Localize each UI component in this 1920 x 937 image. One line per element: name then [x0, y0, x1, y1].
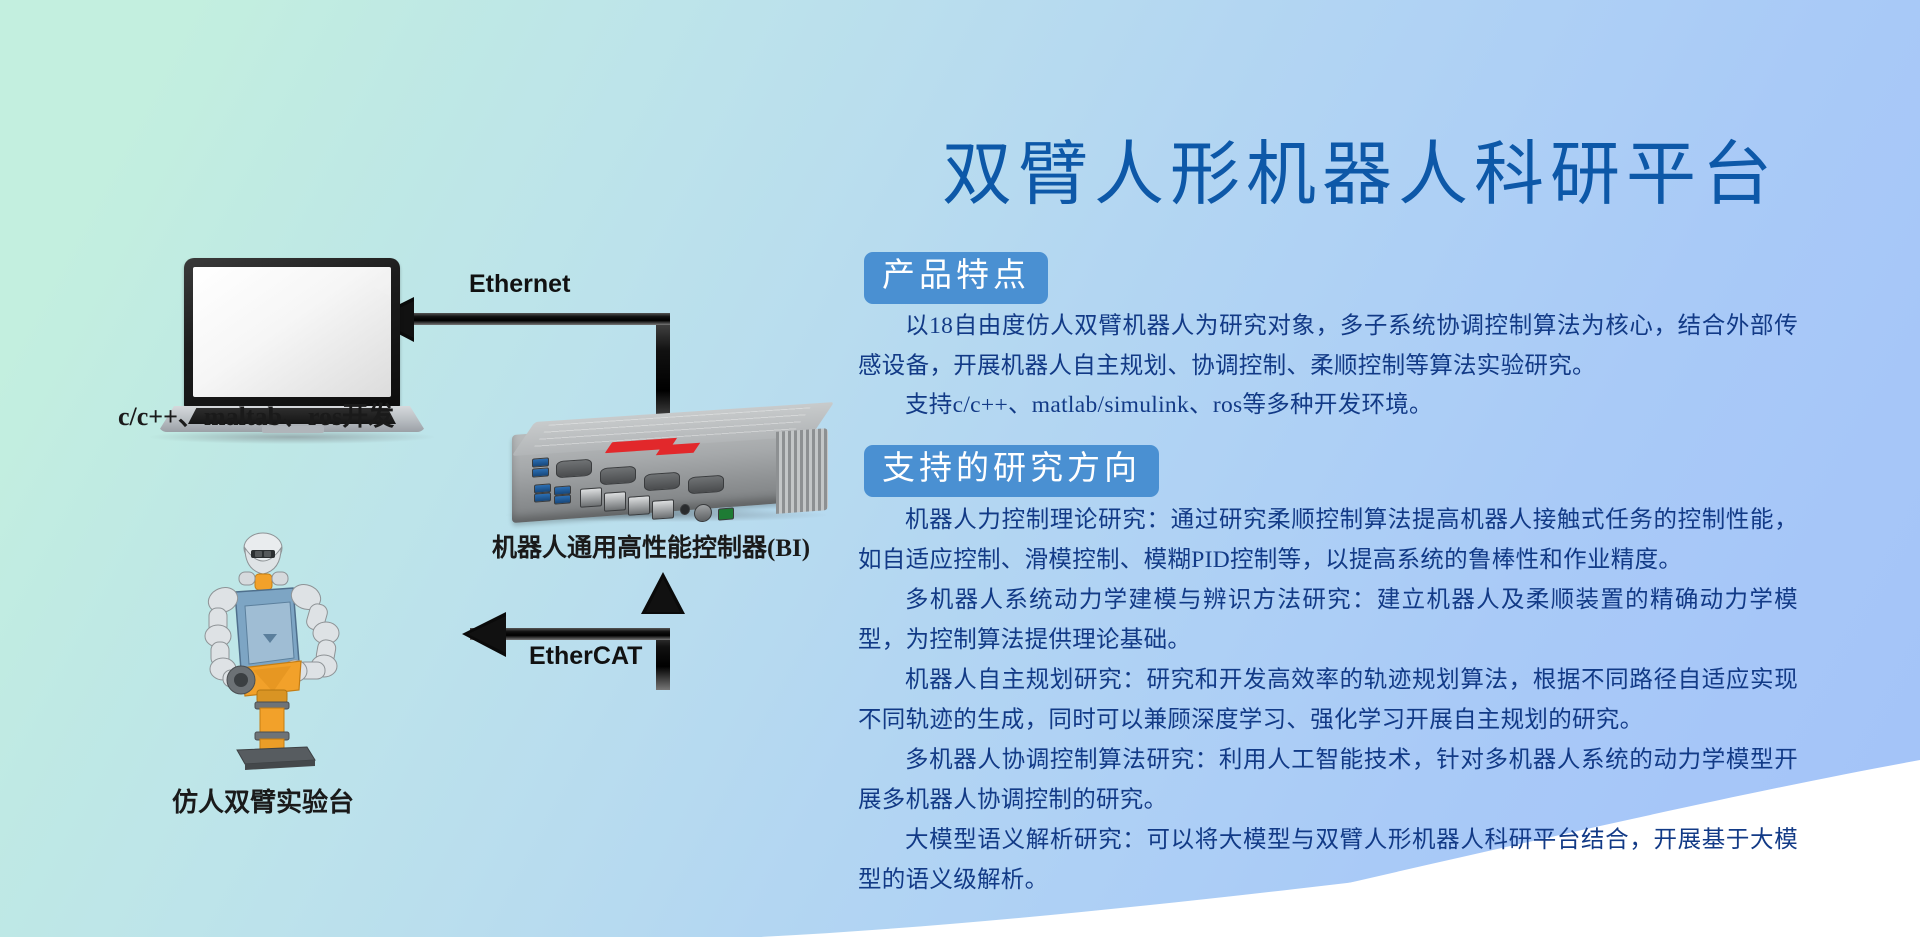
laptop-screen — [193, 267, 391, 397]
feature-paragraph: 支持c/c++、matlab/simulink、ros等多种开发环境。 — [858, 385, 1798, 425]
screen-glint — [339, 267, 391, 297]
page-title: 双臂人形机器人科研平台 — [840, 118, 1880, 219]
system-architecture-diagram: c/c++、maltab、ros开发 — [0, 0, 860, 937]
feature-paragraph: 以18自由度仿人双臂机器人为研究对象，多子系统协调控制算法为核心，结合外部传感设… — [858, 306, 1798, 386]
robot-label: 仿人双臂实验台 — [172, 782, 354, 819]
ethercat-arrow — [462, 572, 685, 690]
controller-serial-port — [644, 472, 680, 492]
direction-paragraph: 大模型语义解析研究：可以将大模型与双臂人形机器人科研平台结合，开展基于大模型的语… — [858, 820, 1798, 900]
controller-ethernet-port — [604, 491, 626, 512]
ethercat-link-label: EtherCAT — [529, 642, 642, 671]
controller-ethernet-port — [628, 495, 650, 516]
laptop-label: c/c++、maltab、ros开发 — [118, 396, 394, 433]
humanoid-robot-icon — [175, 530, 385, 790]
poster-canvas: c/c++、maltab、ros开发 — [0, 0, 1920, 937]
controller-label: 机器人通用高性能控制器(BI) — [492, 528, 810, 564]
direction-paragraph: 机器人自主规划研究：研究和开发高效率的轨迹规划算法，根据不同路径自适应实现不同轨… — [858, 660, 1798, 740]
controller-usb-port — [554, 494, 571, 504]
controller-terminal-block — [718, 507, 734, 520]
controller-heatsink-fins — [776, 428, 828, 514]
section-badge-directions: 支持的研究方向 — [864, 445, 1159, 497]
section-badge-features: 产品特点 — [864, 252, 1048, 304]
ethernet-link-label: Ethernet — [469, 270, 570, 299]
direction-paragraph: 多机器人系统动力学建模与辨识方法研究：建立机器人及柔顺装置的精确动力学模型，为控… — [858, 580, 1798, 660]
controller-serial-port — [556, 459, 592, 479]
laptop-lid — [184, 258, 400, 408]
controller-ethernet-port — [652, 499, 674, 520]
direction-paragraph: 机器人力控制理论研究：通过研究柔顺控制算法提高机器人接触式任务的控制性能，如自适… — [858, 500, 1798, 580]
controller-usb-port — [534, 492, 551, 502]
controller-usb-port — [532, 467, 549, 477]
controller-serial-port — [600, 466, 636, 486]
content-column: 双臂人形机器人科研平台 产品特点 以18自由度仿人双臂机器人为研究对象，多子系统… — [840, 0, 1920, 937]
controller-serial-port — [688, 475, 724, 495]
industrial-controller-icon — [512, 412, 830, 524]
direction-paragraph: 多机器人协调控制算法研究：利用人工智能技术，针对多机器人系统的动力学模型开展多机… — [858, 740, 1798, 820]
controller-ethernet-port — [580, 487, 602, 508]
controller-usb-port — [532, 457, 549, 467]
